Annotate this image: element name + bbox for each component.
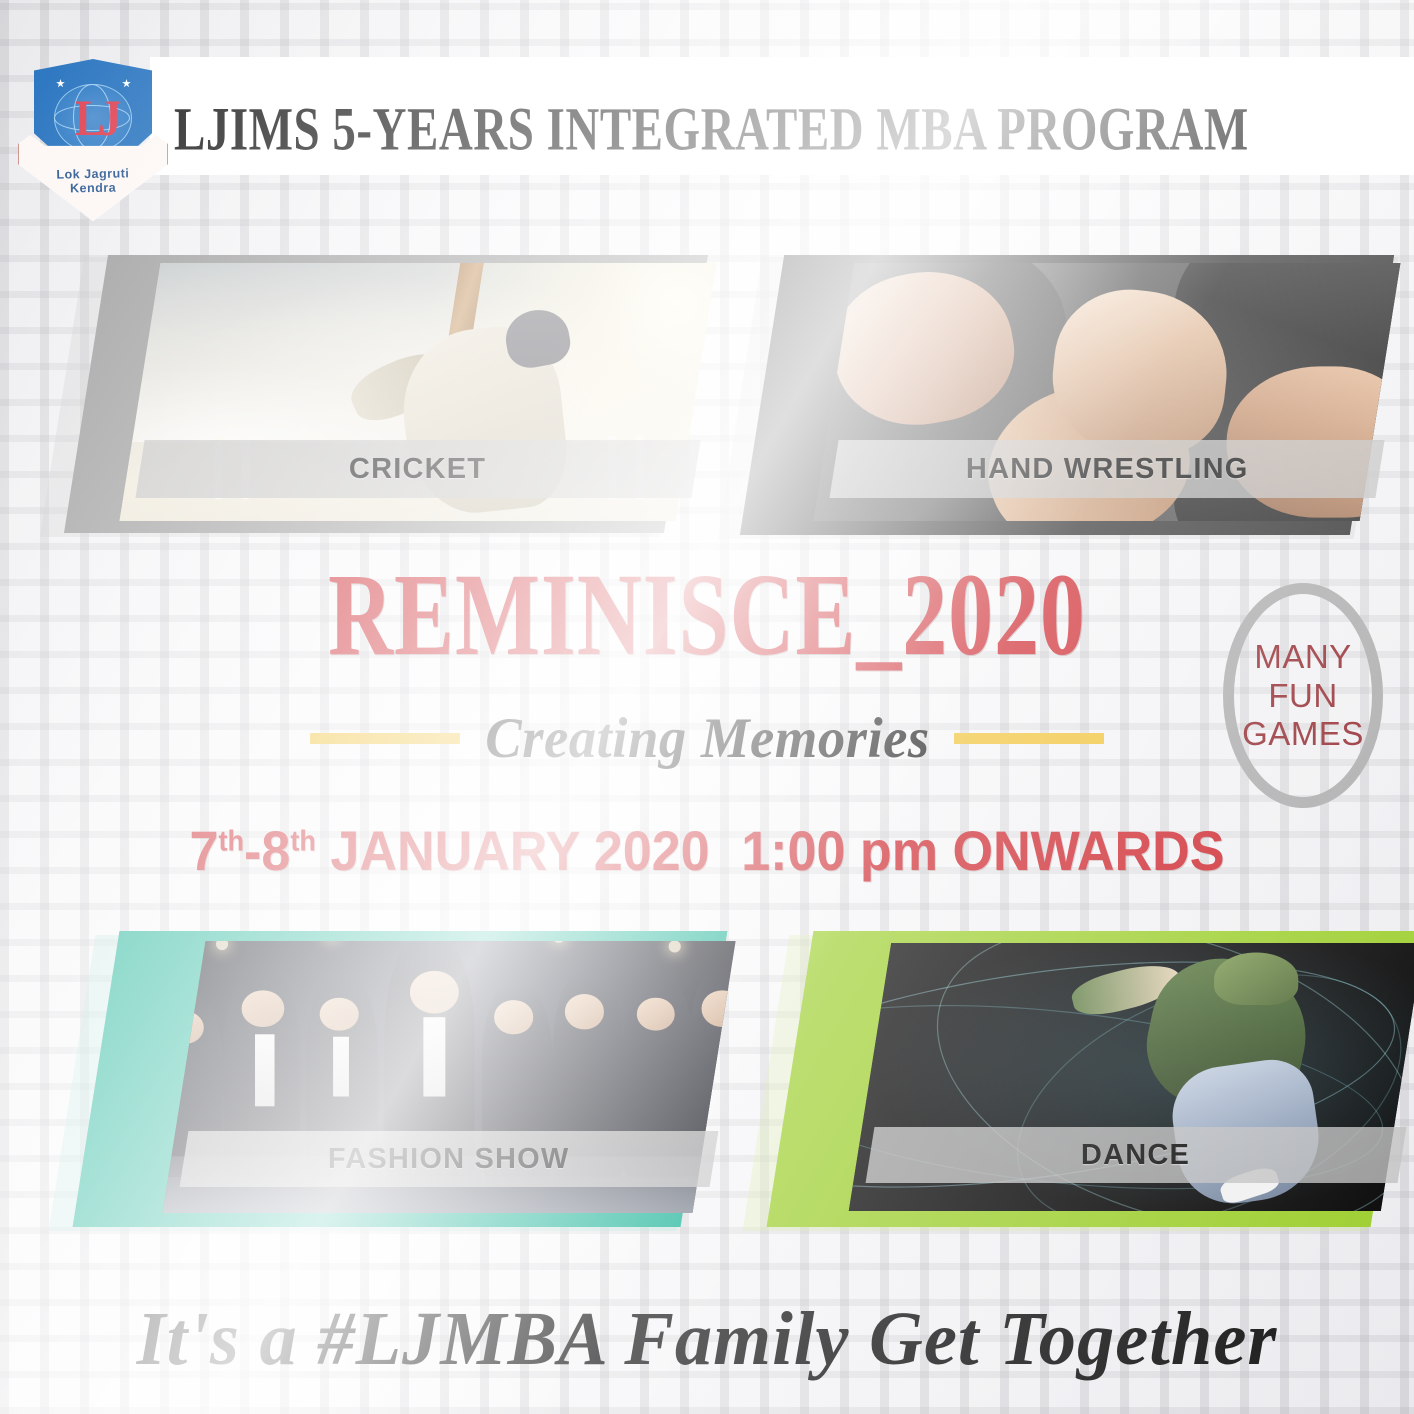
event-card-fashion-show[interactable]: FASHION SHOW [56,925,716,1245]
fun-badge-line-2: FUN [1268,678,1337,714]
event-title: REMINISCE_2020 [71,556,1344,674]
card-label-text: DANCE [1081,1139,1190,1172]
event-date-time: 7th-8th JANUARY 20201:00 pm ONWARDS [49,818,1364,883]
ljims-logo: LJ Lok Jagruti Kendra [18,55,168,230]
date-month-year: JANUARY 2020 [330,819,709,882]
date-day-start: 7 [189,819,218,882]
many-fun-games-badge: MANY FUN GAMES [1223,583,1383,808]
date-separator: - [244,819,261,882]
tagline-rule-right [954,733,1104,744]
date-day-end-suffix: th [290,825,316,857]
event-time: 1:00 pm ONWARDS [741,819,1224,882]
card-label-text: FASHION SHOW [328,1143,570,1176]
event-poster: LJ Lok Jagruti Kendra LJIMS 5-YEARS INTE… [0,0,1414,1414]
card-label-text: HAND WRESTLING [966,453,1249,486]
card-label-band: HAND WRESTLING [829,440,1384,498]
fun-badge-line-1: MANY [1254,639,1351,675]
date-day-start-suffix: th [218,825,244,857]
event-tagline: Creating Memories [485,706,929,771]
footer-script-text: It's a #LJMBA Family Get Together [14,1296,1400,1383]
event-card-dance[interactable]: DANCE [750,925,1410,1245]
tagline-row: Creating Memories [0,706,1414,771]
logo-monogram: LJ [75,94,116,145]
event-card-cricket[interactable]: CRICKET [40,247,700,547]
program-title: LJIMS 5-YEARS INTEGRATED MBA PROGRAM [174,95,1214,165]
fun-badge-line-3: GAMES [1242,716,1364,752]
logo-ribbon-text: Lok Jagruti Kendra [32,166,154,196]
date-day-end: 8 [261,819,290,882]
card-label-band: DANCE [866,1127,1407,1183]
card-label-text: CRICKET [349,453,486,486]
event-card-hand-wrestling[interactable]: HAND WRESTLING [726,247,1396,547]
card-label-band: CRICKET [135,440,700,498]
tagline-rule-left [310,733,460,744]
card-label-band: FASHION SHOW [180,1131,719,1187]
